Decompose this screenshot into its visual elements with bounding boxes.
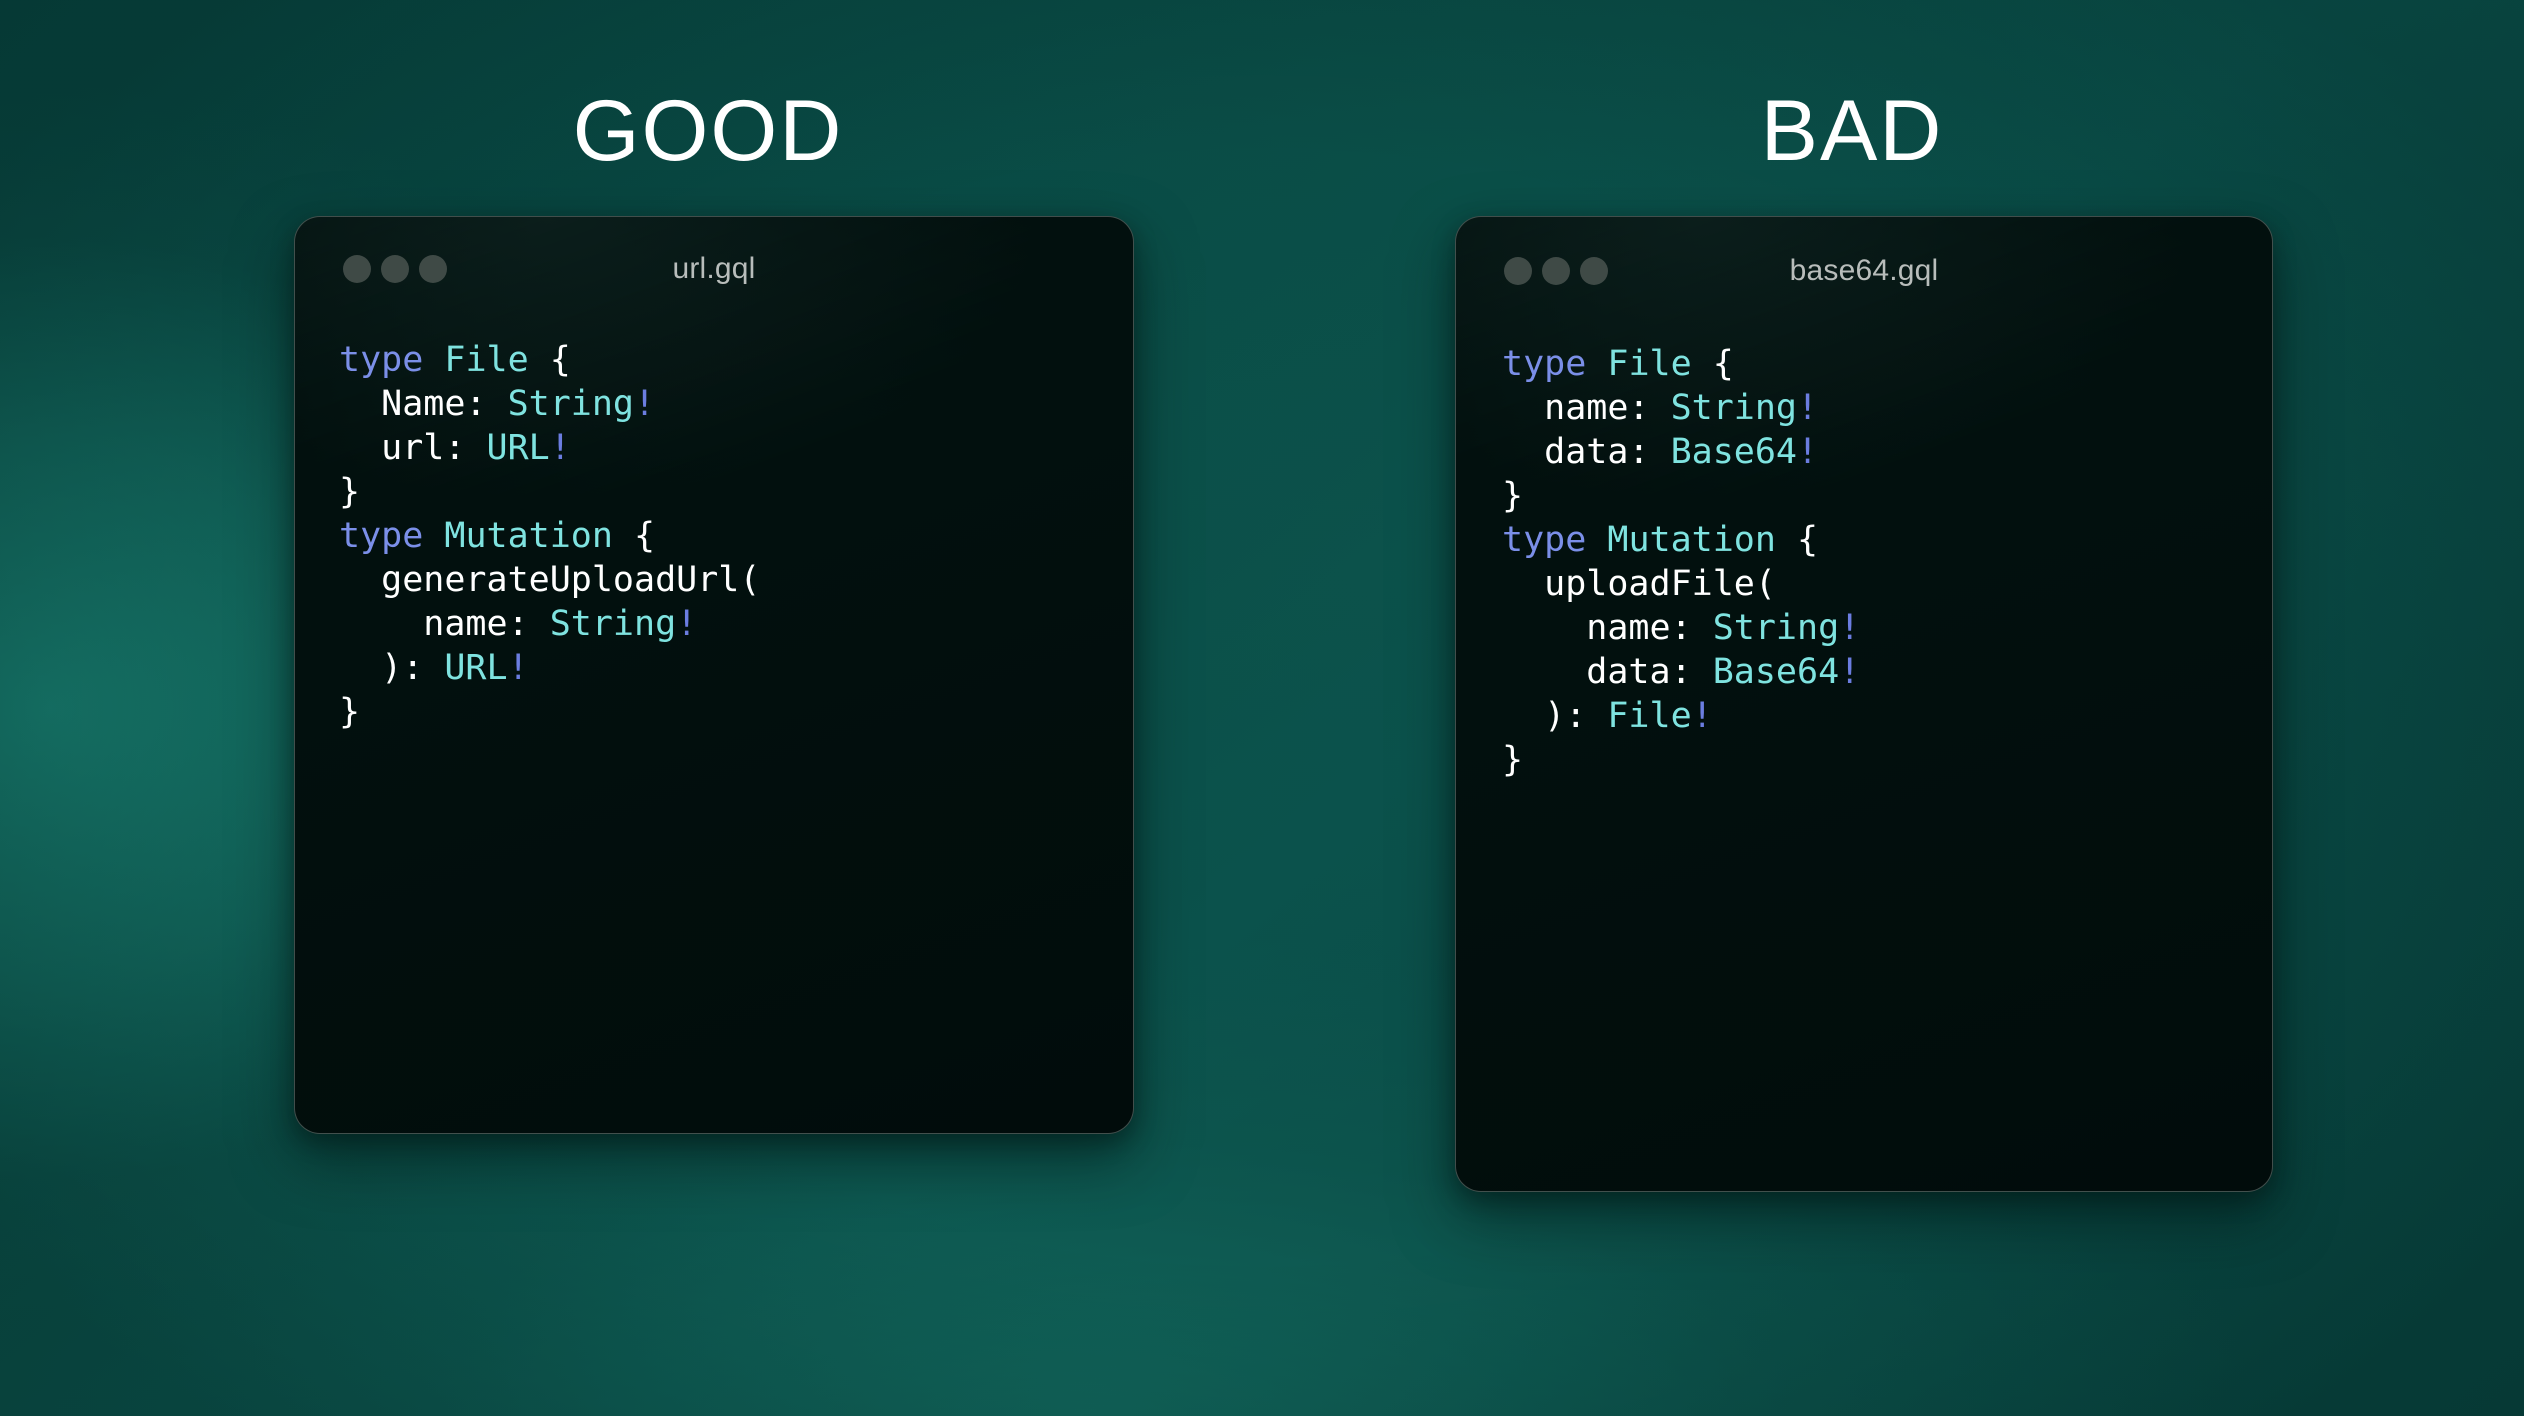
code-line: ): File! xyxy=(1502,695,2272,739)
code-token: type xyxy=(1502,520,1586,560)
code-token: File xyxy=(1607,696,1691,736)
code-token: String xyxy=(1713,608,1839,648)
code-token: data: xyxy=(1502,652,1713,692)
window-controls-good xyxy=(343,255,447,283)
code-token: URL xyxy=(444,648,507,688)
code-token xyxy=(423,516,444,556)
code-card-bad: base64.gql type File { name: String! dat… xyxy=(1455,216,2273,1192)
code-line: } xyxy=(1502,475,2272,519)
code-token: Base64 xyxy=(1713,652,1839,692)
code-token: String xyxy=(508,384,634,424)
code-token: type xyxy=(339,340,423,380)
code-token xyxy=(1586,344,1607,384)
code-token: uploadFile( xyxy=(1502,564,1776,604)
code-token: Name: xyxy=(339,384,508,424)
code-card-bad-inner: base64.gql type File { name: String! dat… xyxy=(1456,217,2272,1191)
code-card-good: url.gql type File { Name: String! url: U… xyxy=(294,216,1134,1134)
code-card-good-inner: url.gql type File { Name: String! url: U… xyxy=(295,217,1133,1133)
code-line: data: Base64! xyxy=(1502,431,2272,475)
code-line: type File { xyxy=(339,339,1133,383)
code-token: ! xyxy=(676,604,697,644)
code-token: } xyxy=(339,472,360,512)
code-token: { xyxy=(1776,520,1818,560)
code-token: name: xyxy=(1502,388,1671,428)
window-dot-maximize-icon[interactable] xyxy=(1580,257,1608,285)
code-token: File xyxy=(1607,344,1691,384)
code-line: url: URL! xyxy=(339,427,1133,471)
window-dot-minimize-icon[interactable] xyxy=(1542,257,1570,285)
code-card-bad-titlebar: base64.gql xyxy=(1456,217,2272,325)
window-dot-close-icon[interactable] xyxy=(343,255,371,283)
code-block-good[interactable]: type File { Name: String! url: URL!}type… xyxy=(295,321,1133,735)
code-line: uploadFile( xyxy=(1502,563,2272,607)
window-dot-close-icon[interactable] xyxy=(1504,257,1532,285)
code-token: generateUploadUrl( xyxy=(339,560,760,600)
code-block-bad[interactable]: type File { name: String! data: Base64!}… xyxy=(1456,325,2272,783)
window-dot-maximize-icon[interactable] xyxy=(419,255,447,283)
code-token: url: xyxy=(339,428,487,468)
code-token: { xyxy=(613,516,655,556)
code-token xyxy=(423,340,444,380)
code-token: File xyxy=(444,340,528,380)
code-line: data: Base64! xyxy=(1502,651,2272,695)
code-line: } xyxy=(339,471,1133,515)
code-line: type File { xyxy=(1502,343,2272,387)
code-token: Base64 xyxy=(1671,432,1797,472)
code-token: type xyxy=(339,516,423,556)
code-token: ! xyxy=(1797,432,1818,472)
code-token: type xyxy=(1502,344,1586,384)
code-token: ): xyxy=(1502,696,1607,736)
code-token: name: xyxy=(1502,608,1713,648)
code-line: generateUploadUrl( xyxy=(339,559,1133,603)
code-token: String xyxy=(1671,388,1797,428)
code-line: name: String! xyxy=(339,603,1133,647)
comparison-stage: GOOD BAD url.gql type File { Name: Strin… xyxy=(0,0,2524,1416)
code-line: } xyxy=(339,691,1133,735)
code-token: { xyxy=(1692,344,1734,384)
code-token: ! xyxy=(550,428,571,468)
bad-heading: BAD xyxy=(1761,88,1944,174)
code-line: name: String! xyxy=(1502,607,2272,651)
code-line: ): URL! xyxy=(339,647,1133,691)
code-token: } xyxy=(1502,476,1523,516)
code-line: type Mutation { xyxy=(339,515,1133,559)
code-token: String xyxy=(550,604,676,644)
code-token: ): xyxy=(339,648,444,688)
code-token: ! xyxy=(1797,388,1818,428)
code-token: Mutation xyxy=(1607,520,1776,560)
code-line: name: String! xyxy=(1502,387,2272,431)
window-dot-minimize-icon[interactable] xyxy=(381,255,409,283)
code-token: } xyxy=(1502,740,1523,780)
good-heading: GOOD xyxy=(573,88,844,174)
code-line: type Mutation { xyxy=(1502,519,2272,563)
code-token: ! xyxy=(634,384,655,424)
code-token: } xyxy=(339,692,360,732)
code-token: ! xyxy=(1839,652,1860,692)
code-line: Name: String! xyxy=(339,383,1133,427)
code-token: name: xyxy=(339,604,550,644)
code-token: data: xyxy=(1502,432,1671,472)
code-token: ! xyxy=(1839,608,1860,648)
code-token xyxy=(1586,520,1607,560)
code-token: URL xyxy=(487,428,550,468)
code-token: Mutation xyxy=(444,516,613,556)
window-controls-bad xyxy=(1504,257,1608,285)
code-token: { xyxy=(529,340,571,380)
code-token: ! xyxy=(508,648,529,688)
code-token: ! xyxy=(1692,696,1713,736)
code-card-good-titlebar: url.gql xyxy=(295,217,1133,321)
code-line: } xyxy=(1502,739,2272,783)
